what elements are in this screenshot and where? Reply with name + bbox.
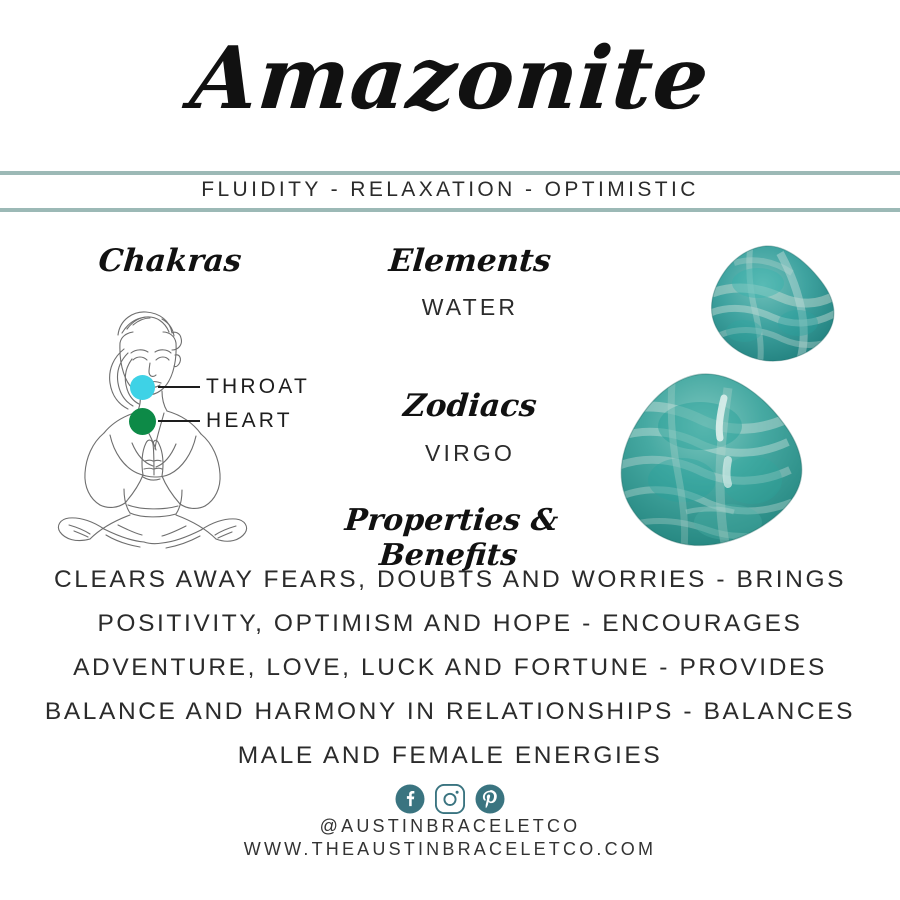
elements-heading: Elements [328,243,611,279]
pinterest-icon[interactable] [475,784,505,814]
social-handle: @AUSTINBRACELETCO [0,816,900,837]
properties-line: POSITIVITY, OPTIMISM AND HOPE - ENCOURAG… [20,602,880,646]
amazonite-stone-large [616,372,812,550]
properties-body: CLEARS AWAY FEARS, DOUBTS AND WORRIES - … [20,558,880,778]
chakra-dot-heart [129,408,156,435]
chakra-leader-throat [158,386,200,388]
website-url: WWW.THEAUSTINBRACELETCO.COM [0,839,900,860]
properties-line: MALE AND FEMALE ENERGIES [20,734,880,778]
chakra-label-heart: HEART [206,409,293,433]
instagram-icon[interactable] [435,784,465,814]
divider-line-top [0,171,900,175]
properties-line: CLEARS AWAY FEARS, DOUBTS AND WORRIES - … [20,558,880,602]
chakras-heading: Chakras [58,243,281,279]
keywords-band: FLUIDITY - RELAXATION - OPTIMISTIC [0,178,900,202]
amazonite-stone-small [706,243,838,365]
properties-line: ADVENTURE, LOVE, LUCK AND FORTUNE - PROV… [20,646,880,690]
chakra-dot-throat [130,375,155,400]
zodiacs-value: VIRGO [330,440,610,467]
zodiacs-heading: Zodiacs [328,388,611,424]
divider-line-bottom [0,208,900,212]
chakra-label-throat: THROAT [206,375,310,399]
elements-value: WATER [330,294,610,321]
chakra-leader-heart [158,420,200,422]
page-title: Amazonite [0,34,900,124]
properties-line: BALANCE AND HARMONY IN RELATIONSHIPS - B… [20,690,880,734]
social-links [0,784,900,814]
amazonite-crystal-info-card: Amazonite FLUIDITY - RELAXATION - OPTIMI… [0,0,900,900]
facebook-icon[interactable] [395,784,425,814]
